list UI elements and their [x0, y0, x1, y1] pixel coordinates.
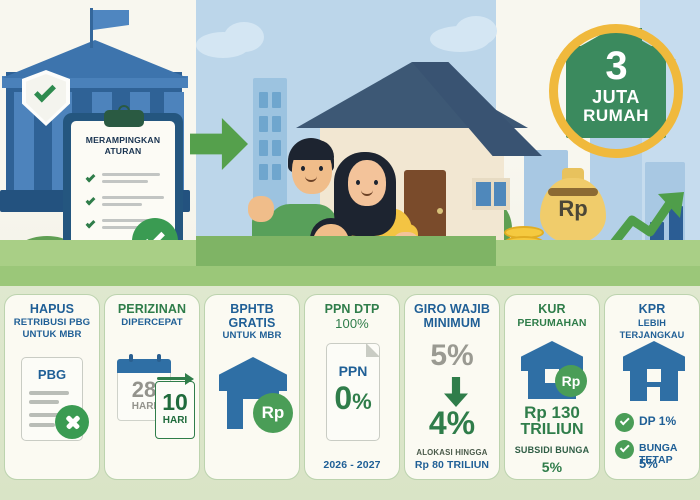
gwm-to-value: 4% — [405, 405, 499, 442]
kur-amount-line2: TRILIUN — [505, 421, 599, 439]
money-bag-label: Rp — [540, 196, 606, 222]
illustration-scene: MERAMPINGKAN ATURAN — [0, 0, 700, 292]
card-hapus-retribusi-pbg[interactable]: HAPUS RETRIBUSI PBG UNTUK MBR PBG — [4, 294, 100, 480]
clipboard-line — [102, 173, 160, 176]
flag-pole — [90, 8, 93, 48]
card-title: PPN DTP — [309, 303, 395, 317]
calendar-ring — [129, 354, 133, 362]
card-title-line2: MINIMUM — [409, 317, 495, 331]
card-title: KUR — [509, 303, 595, 317]
building-pediment — [2, 40, 188, 78]
rupiah-badge-icon: Rp — [555, 365, 587, 397]
badge-line2: RUMAH — [549, 107, 683, 124]
badge-text: 3 JUTA RUMAH — [549, 46, 683, 124]
clipboard-line — [102, 196, 164, 199]
house-icon-doorway — [647, 387, 660, 403]
pbg-document-label: PBG — [21, 367, 83, 382]
card-title-line1: BPHTB — [209, 303, 295, 317]
kpr-bullet-3: 5% — [639, 456, 658, 471]
cards-band: HAPUS RETRIBUSI PBG UNTUK MBR PBG PERIZI… — [0, 286, 700, 500]
tower-window — [272, 140, 281, 156]
calendar-to-value: 10 — [155, 389, 195, 416]
house-window — [472, 178, 510, 210]
card-subtitle-1: PERUMAHAN — [509, 317, 595, 329]
tower-window — [272, 92, 281, 108]
clipboard-clamp — [104, 110, 144, 127]
door-knob — [437, 208, 443, 214]
card-kur-perumahan[interactable]: KUR PERUMAHAN Rp Rp 130 TRILIUN SUBSIDI … — [504, 294, 600, 480]
tower-window — [259, 140, 268, 156]
infographic-root: MERAMPINGKAN ATURAN — [0, 0, 700, 500]
card-ppn-dtp[interactable]: PPN DTP 100% PPN 0% 2026 - 2027 — [304, 294, 400, 480]
mother-eye — [356, 180, 360, 185]
calendar-ring — [157, 354, 161, 362]
card-subtitle-1: 100% — [309, 317, 395, 331]
kur-amount-line1: Rp 130 — [505, 403, 599, 423]
card-subtitle-1: DIPERCEPAT — [109, 317, 195, 329]
card-title: PERIZINAN — [109, 303, 195, 317]
doc-line — [29, 423, 55, 427]
rupiah-badge-icon: Rp — [253, 393, 293, 433]
tower-window — [259, 164, 268, 180]
clipboard-title-line2: ATURAN — [71, 146, 175, 157]
badge-number: 3 — [549, 46, 683, 86]
father-eye — [319, 166, 323, 171]
card-title-line2: GRATIS — [209, 317, 295, 331]
clipboard-line — [102, 180, 148, 183]
doc-line — [29, 391, 69, 395]
clipboard-title-line1: MERAMPINGKAN — [71, 135, 175, 146]
tower-window — [259, 92, 268, 108]
card-note: ALOKASI HINGGA — [405, 448, 499, 457]
card-subtitle-1: LEBIH TERJANGKAU — [609, 317, 695, 341]
card-title-line1: GIRO WAJIB — [409, 303, 495, 317]
doc-line — [29, 400, 59, 404]
calendar-to-unit: HARI — [155, 415, 195, 426]
calendar-header — [117, 359, 171, 373]
arrow-down-icon — [444, 377, 468, 407]
ground-shadow — [196, 236, 496, 266]
card-subtitle-1: RETRIBUSI PBG — [9, 317, 95, 329]
card-giro-wajib-minimum[interactable]: GIRO WAJIB MINIMUM 5% 4% ALOKASI HINGGA … — [404, 294, 500, 480]
ppn-value-number: 0 — [334, 380, 352, 416]
money-bag-tie — [548, 188, 598, 196]
card-perizinan-dipercepat[interactable]: PERIZINAN DIPERCEPAT 28 HARI 10 HARI — [104, 294, 200, 480]
house-icon-roof — [219, 357, 287, 391]
mother-eye — [374, 180, 378, 185]
house-icon-window — [647, 369, 661, 382]
ppn-document-label: PPN — [326, 363, 380, 379]
check-icon — [615, 440, 634, 459]
clipboard-line — [102, 203, 142, 206]
card-kpr-lebih-terjangkau[interactable]: KPR LEBIH TERJANGKAU DP 1% BUNGA TETAP 5… — [604, 294, 700, 480]
father-fist — [248, 196, 274, 222]
badge-line1: JUTA — [549, 88, 683, 106]
father-hair-top — [290, 140, 334, 160]
kpr-bullet-1: DP 1% — [639, 414, 676, 428]
card-subtitle-2: UNTUK MBR — [209, 330, 295, 342]
ppn-value-unit: % — [352, 389, 372, 414]
tower-window — [272, 116, 281, 132]
arrow-shaft — [157, 377, 189, 380]
tower-window — [272, 164, 281, 180]
card-footer: Rp 80 TRILIUN — [405, 459, 499, 471]
father-eye — [301, 166, 305, 171]
card-footer: 2026 - 2027 — [305, 459, 399, 471]
tower-window — [259, 116, 268, 132]
card-subtitle-2: UNTUK MBR — [9, 329, 95, 341]
card-title: HAPUS — [9, 303, 95, 317]
card-note: SUBSIDI BUNGA — [505, 445, 599, 455]
flag-icon — [93, 10, 129, 30]
card-footer: 5% — [505, 459, 599, 475]
card-title: KPR — [609, 303, 695, 317]
cloud-2 — [224, 22, 264, 52]
check-icon — [615, 413, 634, 432]
card-bphtb-gratis[interactable]: BPHTB GRATIS UNTUK MBR Rp — [204, 294, 300, 480]
ppn-value: 0% — [326, 381, 380, 419]
gwm-from-value: 5% — [405, 339, 499, 373]
mother-head — [348, 160, 386, 206]
clipboard-title: MERAMPINGKAN ATURAN — [71, 135, 175, 157]
cloud-4 — [455, 16, 497, 46]
